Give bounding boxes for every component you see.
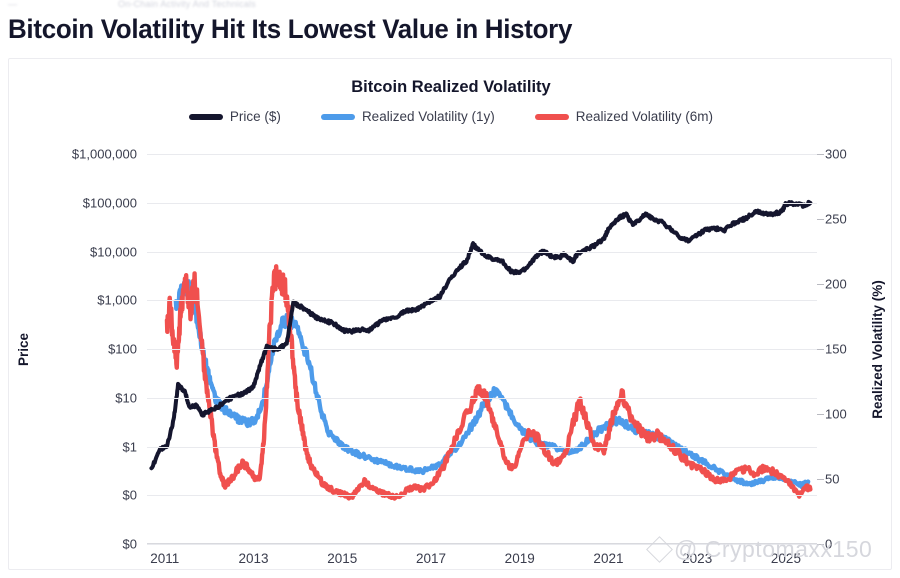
y-axis-right-tickmark <box>817 349 824 350</box>
y-axis-right-tick-label: 0 <box>825 537 832 552</box>
y-axis-right-title-text: Realized Volatility (%) <box>870 280 885 419</box>
legend-item-volatility-1y[interactable]: Realized Volatility (1y) <box>321 109 495 124</box>
x-axis-tick-label: 2015 <box>327 551 357 566</box>
x-axis-tick-label: 2013 <box>238 551 268 566</box>
gridline <box>147 203 817 204</box>
gridline <box>147 300 817 301</box>
gridline <box>147 544 817 545</box>
top-fragment-right: On-Chain Activity And Technicals <box>118 0 256 9</box>
y-axis-right-tick-label: 250 <box>825 212 847 227</box>
x-axis-tick-label: 2021 <box>593 551 623 566</box>
y-axis-left-tick-label: $1 <box>123 439 137 454</box>
x-axis-ticks: 20112013201520172019202120232025 <box>147 551 817 575</box>
x-axis-line <box>147 543 817 544</box>
y-axis-right-tickmark <box>817 219 824 220</box>
y-axis-right-tickmark <box>817 154 824 155</box>
legend-label-volatility-1y: Realized Volatility (1y) <box>362 109 495 124</box>
y-axis-right-tickmark <box>817 544 824 545</box>
legend-swatch-price <box>189 114 223 120</box>
y-axis-right-tickmark <box>817 479 824 480</box>
gridline <box>147 447 817 448</box>
y-axis-left-tick-label: $10,000 <box>90 244 137 259</box>
x-axis-tick-label: 2025 <box>771 551 801 566</box>
x-axis-tick-label: 2023 <box>682 551 712 566</box>
chart-card: Bitcoin Realized Volatility Price ($) Re… <box>8 58 892 570</box>
gridline <box>147 252 817 253</box>
plot-area <box>147 154 817 544</box>
gridline <box>147 154 817 155</box>
gridline <box>147 495 817 496</box>
y-axis-right-tick-label: 300 <box>825 147 847 162</box>
y-axis-left-tick-label: $100,000 <box>83 195 137 210</box>
y-axis-left-tick-label: $0 <box>123 537 137 552</box>
legend-label-price: Price ($) <box>230 109 281 124</box>
y-axis-right-tickmark <box>817 414 824 415</box>
top-fragment-left: — <box>8 0 17 9</box>
y-axis-right-tick-label: 50 <box>825 472 839 487</box>
y-axis-right-title: Realized Volatility (%) <box>867 154 887 544</box>
legend-swatch-volatility-1y <box>321 114 355 120</box>
legend-item-volatility-6m[interactable]: Realized Volatility (6m) <box>535 109 713 124</box>
gridline <box>147 398 817 399</box>
y-axis-right-tick-label: 200 <box>825 277 847 292</box>
y-axis-left-tick-label: $100 <box>108 342 137 357</box>
x-axis-tick-label: 2017 <box>416 551 446 566</box>
y-axis-left-tick-label: $0 <box>123 488 137 503</box>
series-line-price <box>151 202 810 468</box>
page-headline: Bitcoin Volatility Hit Its Lowest Value … <box>8 14 572 45</box>
y-axis-left-tick-label: $10 <box>115 390 137 405</box>
y-axis-left-ticks: $1,000,000$100,000$10,000$1,000$100$10$1… <box>9 154 137 544</box>
legend-swatch-volatility-6m <box>535 114 569 120</box>
y-axis-right-tickmark <box>817 284 824 285</box>
gridline <box>147 349 817 350</box>
y-axis-left-tick-label: $1,000 <box>97 293 137 308</box>
y-axis-right-tick-label: 150 <box>825 342 847 357</box>
x-axis-tick-label: 2011 <box>150 551 179 566</box>
x-axis-tick-label: 2019 <box>505 551 535 566</box>
y-axis-left-tick-label: $1,000,000 <box>72 147 137 162</box>
chart-title: Bitcoin Realized Volatility <box>22 77 879 97</box>
truncated-top-text: — On-Chain Activity And Technicals <box>0 0 900 13</box>
y-axis-right-tick-label: 100 <box>825 407 847 422</box>
legend-label-volatility-6m: Realized Volatility (6m) <box>576 109 713 124</box>
legend-item-price[interactable]: Price ($) <box>189 109 281 124</box>
chart-legend: Price ($) Realized Volatility (1y) Reali… <box>9 109 893 124</box>
